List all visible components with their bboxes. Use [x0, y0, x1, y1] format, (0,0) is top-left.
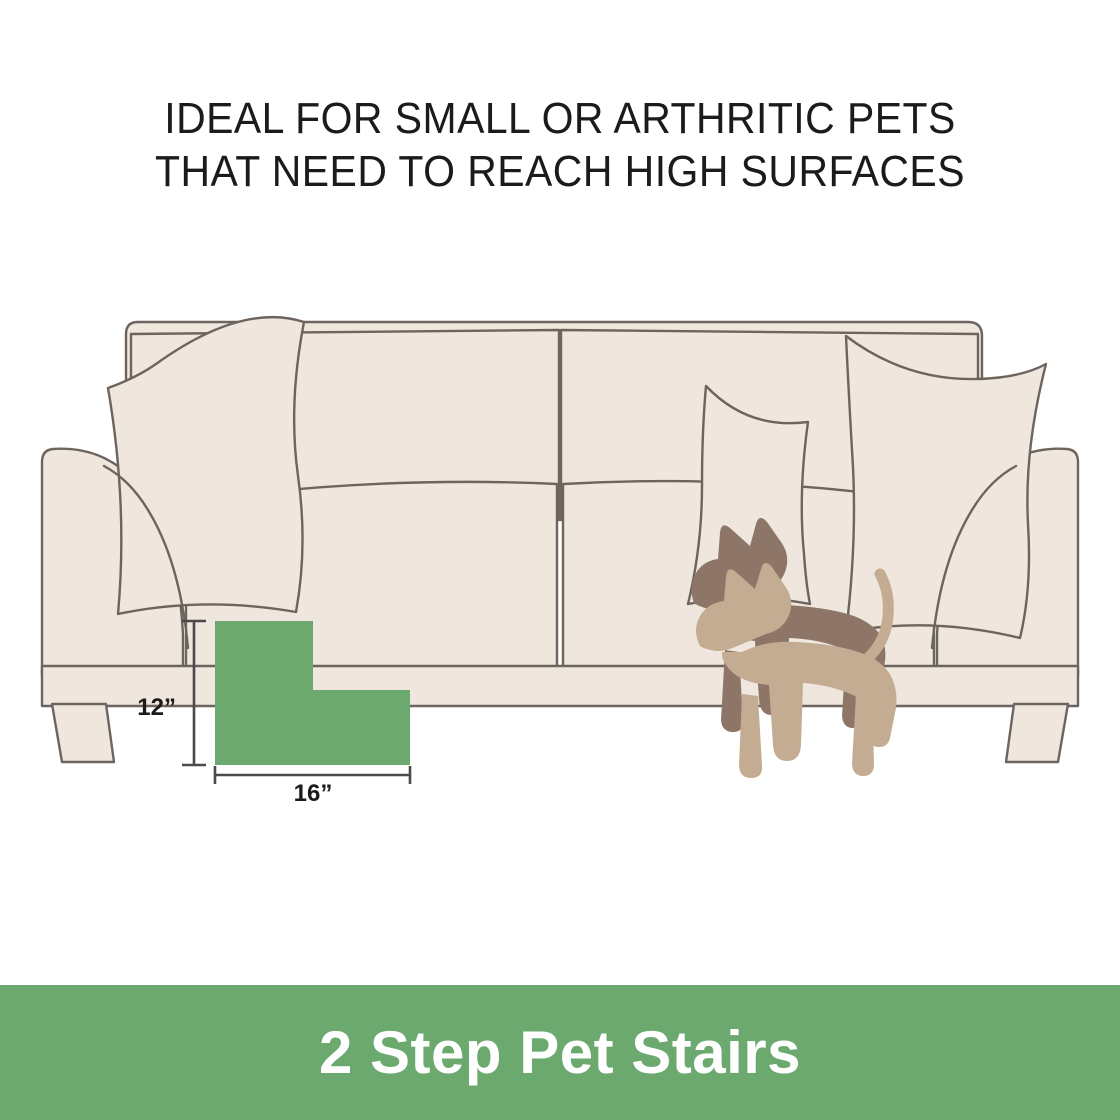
product-name-label: 2 Step Pet Stairs	[319, 1023, 801, 1083]
illustration-stage: 12” 16”	[0, 0, 1120, 1120]
infographic-canvas: IDEAL FOR SMALL OR ARTHRITIC PETS THAT N…	[0, 0, 1120, 1120]
height-dimension-label: 12”	[137, 694, 176, 721]
sofa-leg-right	[1006, 704, 1068, 762]
width-dimension-label: 16”	[294, 780, 333, 807]
sofa-leg-left	[52, 704, 114, 762]
product-name-banner: 2 Step Pet Stairs	[0, 985, 1120, 1120]
sofa-base-rail	[42, 666, 1078, 706]
dog-front-leg-rear	[852, 694, 874, 776]
sofa-illustration	[42, 317, 1078, 762]
sofa-pillow-right-back	[846, 336, 1046, 638]
